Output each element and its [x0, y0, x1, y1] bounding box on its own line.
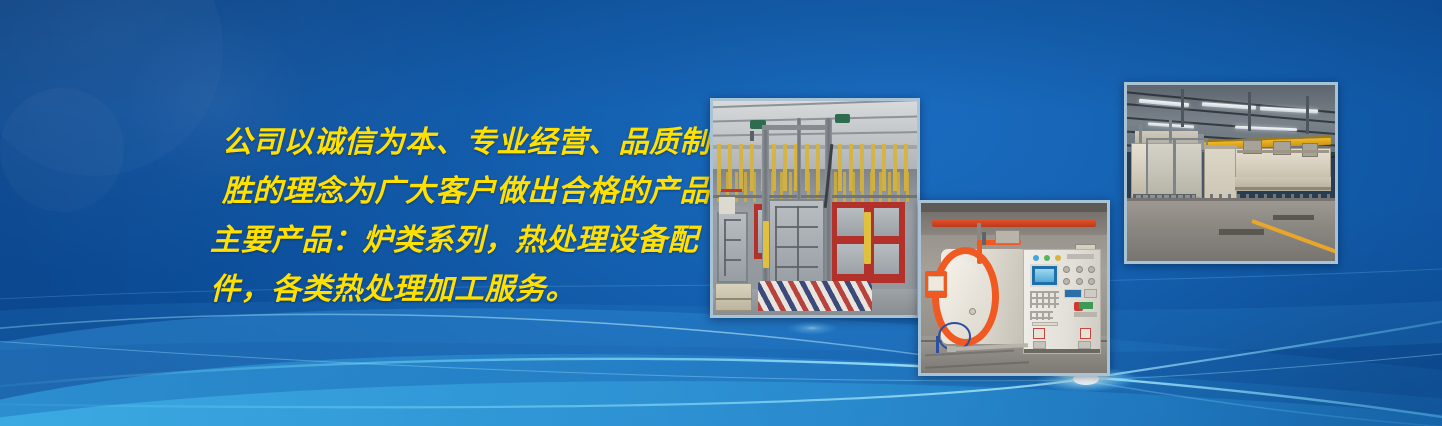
- photo-batch-furnace-image: [713, 101, 917, 315]
- headline-line-1: 公司以诚信为本、专业经营、品质制: [210, 118, 730, 167]
- photo-production-line-image: [1127, 85, 1335, 261]
- headline-text: 公司以诚信为本、专业经营、品质制 胜的理念为广大客户做出合格的产品。 主要产品：…: [210, 118, 730, 314]
- photo-vacuum-furnace[interactable]: [918, 200, 1110, 376]
- headline-line-3: 主要产品：炉类系列，热处理设备配: [210, 216, 730, 265]
- promo-banner: 公司以诚信为本、专业经营、品质制 胜的理念为广大客户做出合格的产品。 主要产品：…: [0, 0, 1442, 426]
- headline-line-2: 胜的理念为广大客户做出合格的产品。: [210, 167, 730, 216]
- photo-vacuum-furnace-image: [921, 203, 1107, 373]
- photo-batch-furnace[interactable]: [710, 98, 920, 318]
- headline-line-4: 件，各类热处理加工服务。: [210, 265, 730, 314]
- photo-production-line[interactable]: [1124, 82, 1338, 264]
